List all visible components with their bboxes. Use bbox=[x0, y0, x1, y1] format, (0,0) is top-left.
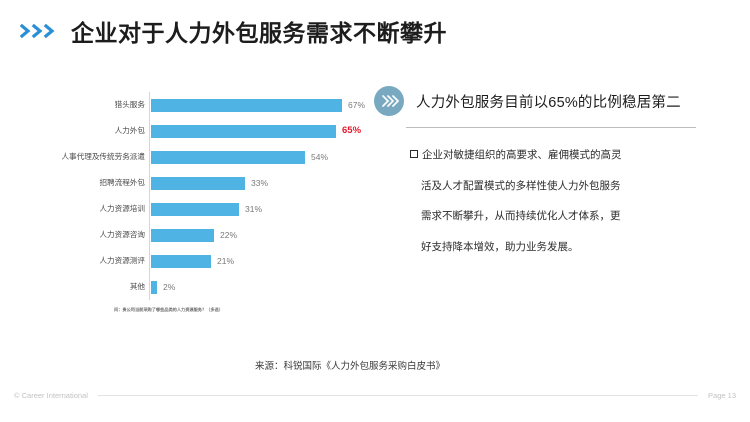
bar-category-label: 人力资源测评 bbox=[18, 257, 150, 265]
bar-category-label: 其他 bbox=[18, 283, 150, 291]
table-row: 其他 2% bbox=[18, 274, 368, 300]
square-bullet-icon bbox=[410, 150, 418, 158]
page-title: 企业对于人力外包服务需求不断攀升 bbox=[71, 14, 447, 48]
bar-value-label-highlighted: 65% bbox=[342, 126, 361, 136]
footer-divider bbox=[98, 395, 698, 396]
insight-body-text: 企业对敏捷组织的高要求、雇佣模式的高灵 bbox=[422, 149, 622, 161]
bar-category-label: 人力资源咨询 bbox=[18, 231, 150, 239]
table-row: 招聘流程外包 33% bbox=[18, 170, 368, 196]
bar-track: 54% bbox=[151, 151, 368, 164]
bar-track: 31% bbox=[151, 203, 368, 216]
insight-divider bbox=[406, 127, 696, 128]
table-row: 人力资源测评 21% bbox=[18, 248, 368, 274]
insight-heading-row: 人力外包服务目前以65%的比例稳居第二 bbox=[374, 86, 726, 116]
bar-category-label: 人事代理及传统劳务派遣 bbox=[18, 153, 150, 161]
bar-fill bbox=[151, 125, 336, 138]
bar-value-label: 2% bbox=[163, 283, 175, 292]
bar-track: 22% bbox=[151, 229, 368, 242]
bar-value-label: 54% bbox=[311, 153, 328, 162]
table-row: 猎头服务 67% bbox=[18, 92, 368, 118]
bar-category-label: 招聘流程外包 bbox=[18, 179, 150, 187]
table-row: 人力外包 65% bbox=[18, 118, 368, 144]
bar-category-label: 人力资源培训 bbox=[18, 205, 150, 213]
bar-value-label: 31% bbox=[245, 205, 262, 214]
slide-title-row: 企业对于人力外包服务需求不断攀升 bbox=[20, 14, 447, 48]
bar-track: 2% bbox=[151, 281, 368, 294]
bar-track: 65% bbox=[151, 125, 368, 138]
bar-value-label: 22% bbox=[220, 231, 237, 240]
table-row: 人力资源培训 31% bbox=[18, 196, 368, 222]
bar-value-label: 67% bbox=[348, 101, 365, 110]
bar-category-label: 人力外包 bbox=[18, 127, 150, 135]
triple-chevron-right-icon bbox=[20, 23, 58, 39]
circle-double-chevron-right-icon bbox=[374, 86, 404, 116]
footer-copyright: © Career International bbox=[14, 391, 88, 400]
chart-footnote: 问：贵公司当前采购了哪些品类的人力资源服务？（多选） bbox=[114, 307, 264, 314]
insight-body-line: 企业对敏捷组织的高要求、雇佣模式的高灵 bbox=[410, 150, 698, 161]
bar-track: 33% bbox=[151, 177, 368, 190]
insight-body-line: 活及人才配置模式的多样性使人力外包服务 bbox=[410, 181, 698, 192]
bar-value-label: 21% bbox=[217, 257, 234, 266]
table-row: 人力资源咨询 22% bbox=[18, 222, 368, 248]
table-row: 人事代理及传统劳务派遣 54% bbox=[18, 144, 368, 170]
bar-fill bbox=[151, 229, 214, 242]
insight-body-line: 需求不断攀升，从而持续优化人才体系，更 bbox=[410, 211, 698, 222]
bar-chart: 猎头服务 67% 人力外包 65% 人事代理及传统劳务派遣 54% 招聘流程外包 bbox=[18, 92, 368, 314]
bar-fill bbox=[151, 151, 305, 164]
bar-fill bbox=[151, 255, 211, 268]
bar-track: 67% bbox=[151, 99, 368, 112]
bar-track: 21% bbox=[151, 255, 368, 268]
insight-panel: 人力外包服务目前以65%的比例稳居第二 企业对敏捷组织的高要求、雇佣模式的高灵 … bbox=[374, 86, 726, 252]
bar-chart-rows: 猎头服务 67% 人力外包 65% 人事代理及传统劳务派遣 54% 招聘流程外包 bbox=[18, 92, 368, 300]
bar-fill bbox=[151, 281, 157, 294]
bar-category-label: 猎头服务 bbox=[18, 101, 150, 109]
bar-fill bbox=[151, 99, 342, 112]
chart-source: 来源：科锐国际《人力外包服务采购白皮书》 bbox=[0, 358, 700, 372]
bar-fill bbox=[151, 177, 245, 190]
insight-heading: 人力外包服务目前以65%的比例稳居第二 bbox=[416, 91, 681, 112]
bar-value-label: 33% bbox=[251, 179, 268, 188]
bar-fill bbox=[151, 203, 239, 216]
footer-page-number: Page 13 bbox=[708, 391, 736, 400]
insight-body: 企业对敏捷组织的高要求、雇佣模式的高灵 活及人才配置模式的多样性使人力外包服务 … bbox=[410, 150, 698, 252]
insight-body-line: 好支持降本增效，助力业务发展。 bbox=[410, 242, 698, 253]
chart-axis-line bbox=[149, 92, 150, 300]
slide-footer: © Career International Page 13 bbox=[0, 391, 750, 400]
